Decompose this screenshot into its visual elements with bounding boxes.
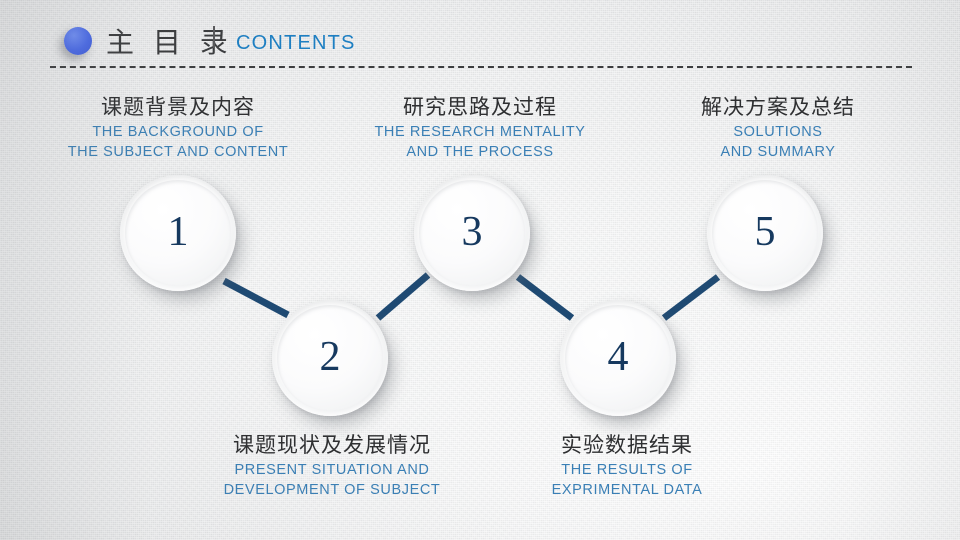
flow-node-4-number: 4 <box>560 300 676 416</box>
flow-node-3-number: 3 <box>414 175 530 291</box>
slide-canvas: 主 目 录 CONTENTS 1 2 3 4 5 课题背景及内容 THE BAC… <box>0 0 960 540</box>
flow-node-2-number: 2 <box>272 300 388 416</box>
flow-node-1[interactable]: 1 <box>120 175 236 291</box>
flow-node-2[interactable]: 2 <box>272 300 388 416</box>
flow-node-4[interactable]: 4 <box>560 300 676 416</box>
flow-node-1-number: 1 <box>120 175 236 291</box>
flow-node-5[interactable]: 5 <box>707 175 823 291</box>
flow-node-5-number: 5 <box>707 175 823 291</box>
flow-node-3[interactable]: 3 <box>414 175 530 291</box>
